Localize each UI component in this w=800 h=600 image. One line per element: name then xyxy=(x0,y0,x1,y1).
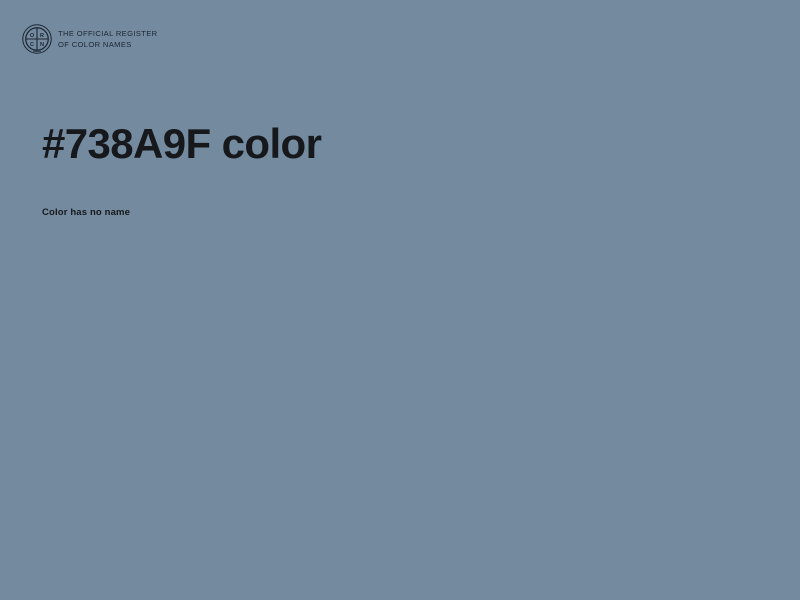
brand-line-2: OF COLOR NAMES xyxy=(58,40,157,51)
page-title: #738A9F color xyxy=(42,118,742,170)
color-page: O R C N THE OFFICIAL REGISTER OF COLOR N… xyxy=(0,0,800,600)
color-info: #738A9F color Color has no name xyxy=(42,118,742,220)
svg-text:R: R xyxy=(40,33,44,39)
svg-text:C: C xyxy=(30,42,34,48)
brand-line-1: THE OFFICIAL REGISTER xyxy=(58,29,157,40)
color-name-status: Color has no name xyxy=(42,170,742,220)
register-seal-icon: O R C N xyxy=(22,24,52,54)
svg-text:O: O xyxy=(30,33,35,39)
brand-text: THE OFFICIAL REGISTER OF COLOR NAMES xyxy=(58,29,157,50)
brand-lockup[interactable]: O R C N THE OFFICIAL REGISTER OF COLOR N… xyxy=(22,24,157,54)
svg-text:N: N xyxy=(40,42,44,48)
